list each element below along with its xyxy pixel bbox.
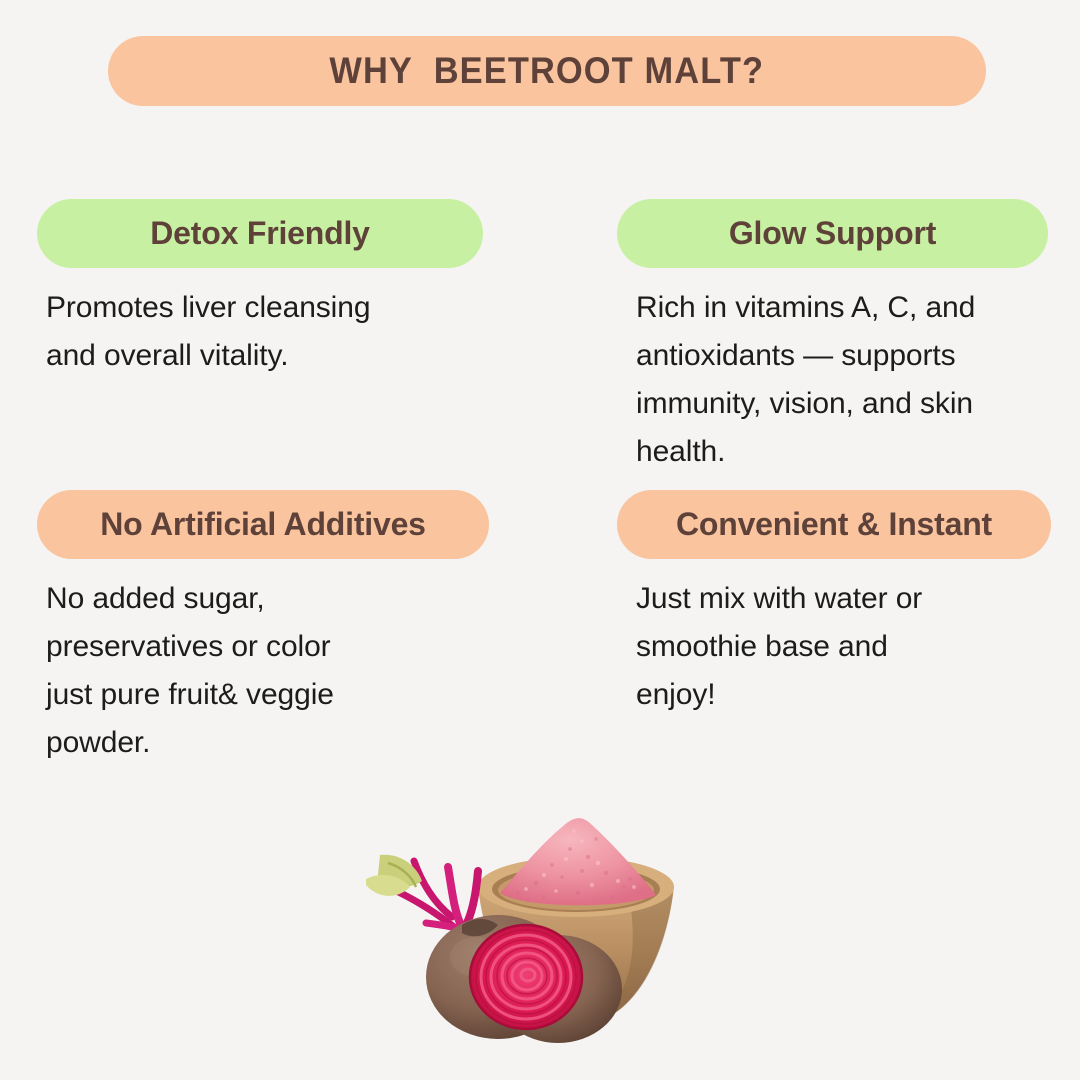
page-title: WHY BEETROOT MALT? <box>330 50 765 92</box>
benefit-card-detox-friendly: Detox Friendly Promotes liver cleansing … <box>37 199 577 380</box>
benefit-label: Glow Support <box>729 215 936 252</box>
benefit-pill-no-artificial-additives: No Artificial Additives <box>37 490 489 559</box>
beetroot-powder <box>500 818 656 905</box>
benefit-pill-detox-friendly: Detox Friendly <box>37 199 483 268</box>
benefit-label: No Artificial Additives <box>100 506 426 543</box>
benefit-pill-convenient-instant: Convenient & Instant <box>617 490 1051 559</box>
page-title-banner: WHY BEETROOT MALT? <box>108 36 986 106</box>
benefit-card-no-artificial-additives: No Artificial Additives No added sugar, … <box>37 490 577 767</box>
benefit-card-convenient-instant: Convenient & Instant Just mix with water… <box>617 490 1067 719</box>
beet-stems <box>366 855 478 931</box>
benefit-description: Rich in vitamins A, C, and antioxidants … <box>617 284 1067 476</box>
benefit-label: Detox Friendly <box>150 215 369 252</box>
benefit-description: Promotes liver cleansing and overall vit… <box>37 284 577 380</box>
benefit-description: Just mix with water or smoothie base and… <box>617 575 1067 719</box>
benefit-card-glow-support: Glow Support Rich in vitamins A, C, and … <box>617 199 1067 476</box>
beetroot-powder-bowl-photo <box>330 805 730 1050</box>
benefit-pill-glow-support: Glow Support <box>617 199 1048 268</box>
benefit-label: Convenient & Instant <box>676 506 992 543</box>
benefit-description: No added sugar, preservatives or color j… <box>37 575 577 767</box>
